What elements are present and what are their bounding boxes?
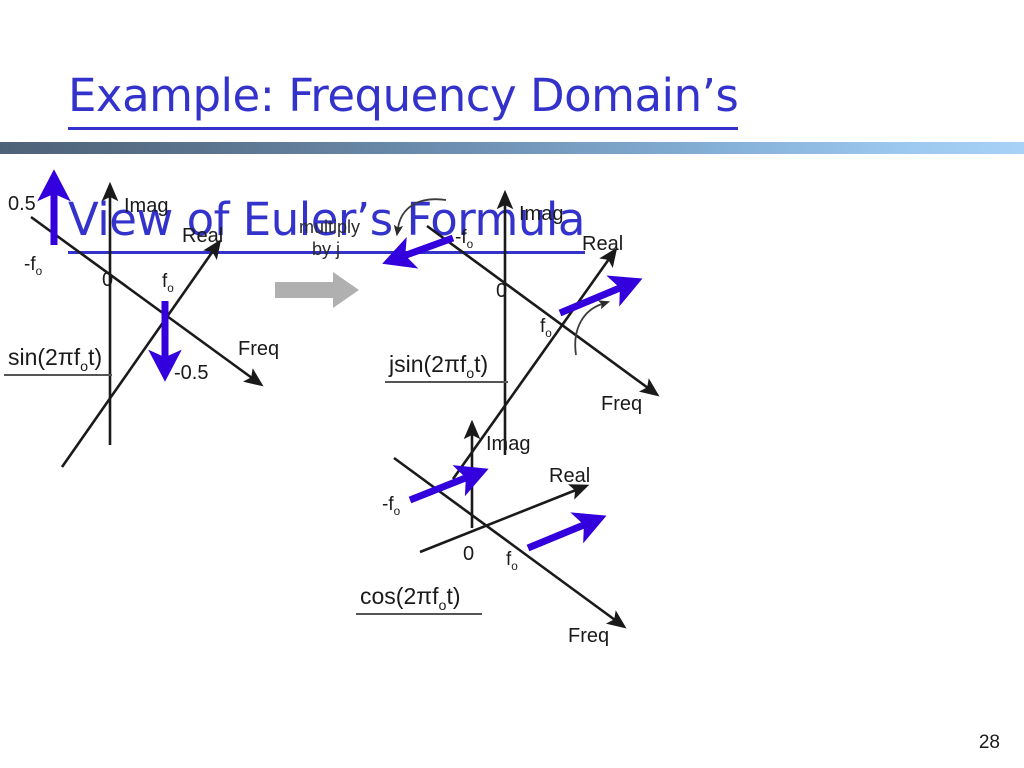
- diagram-cos-pos-f-label: fo: [506, 549, 518, 573]
- diagram-jsin-imag-axis: Imag: [505, 203, 563, 455]
- page-title-line-1: Example: Frequency Domain’s: [68, 66, 738, 130]
- header-divider-bar: [0, 142, 1024, 154]
- transition-label-line-2: by j: [312, 239, 340, 259]
- diagram-sin-imag-label: Imag: [124, 195, 168, 217]
- diagram-jsin-imag-label: Imag: [519, 203, 563, 225]
- diagram-sin-real-axis: Real: [62, 225, 223, 467]
- diagram-sin-origin-label: 0: [102, 269, 113, 291]
- diagram-cos: Imag Real Freq 0 -fo fo cos(2πfot): [356, 433, 615, 647]
- diagram-cos-formula-text: cos(2πfot): [360, 583, 461, 614]
- diagram-sin-real-label: Real: [182, 225, 223, 247]
- diagram-sin: Imag Real Freq 0 -fo fo 0.5 -0.5: [4, 186, 279, 467]
- diagram-sin-vector-neg-f: 0.5: [8, 186, 54, 245]
- diagram-cos-vector-pos-f: [528, 522, 591, 548]
- diagram-sin-formula-text: sin(2πfot): [8, 344, 102, 375]
- diagram-sin-imag-axis: Imag: [110, 195, 168, 445]
- diagram-cos-freq-label: Freq: [568, 625, 609, 647]
- euler-formula-figure: Imag Real Freq 0 -fo fo 0.5 -0.5: [0, 160, 1024, 680]
- diagram-jsin-neg-f-label: -fo: [455, 227, 474, 251]
- diagram-sin-formula: sin(2πfot): [4, 344, 112, 375]
- diagram-sin-freq-label: Freq: [238, 338, 279, 360]
- diagram-cos-imag-axis: Imag: [472, 433, 530, 528]
- diagram-jsin-rotation-arc-left: [398, 199, 446, 228]
- diagram-jsin-pos-f-label: fo: [540, 316, 552, 340]
- diagram-cos-imag-label: Imag: [486, 433, 530, 455]
- diagram-sin-neg-f-label: -fo: [24, 254, 43, 278]
- transition-multiply-by-j: multiply by j: [275, 217, 360, 308]
- diagram-jsin-rotation-arc-right: [575, 304, 602, 355]
- diagram-cos-vector-neg-f: [410, 475, 473, 500]
- diagram-cos-real-label: Real: [549, 465, 590, 487]
- diagram-jsin-formula-text: jsin(2πfot): [388, 351, 488, 382]
- diagram-jsin-freq-label: Freq: [601, 393, 642, 415]
- diagram-jsin-formula: jsin(2πfot): [385, 351, 508, 382]
- page-number: 28: [979, 732, 1000, 754]
- diagram-cos-origin-label: 0: [463, 543, 474, 565]
- transition-label-line-1: multiply: [299, 217, 360, 237]
- diagram-sin-value-neg: -0.5: [174, 362, 208, 384]
- diagram-jsin-origin-label: 0: [496, 280, 507, 302]
- diagram-jsin-vector-neg-f: [398, 238, 453, 258]
- diagram-cos-formula: cos(2πfot): [356, 583, 482, 614]
- block-right-arrow-icon: [275, 272, 359, 308]
- diagram-sin-pos-f-label: fo: [162, 271, 174, 295]
- diagram-sin-value-pos: 0.5: [8, 193, 36, 215]
- diagram-jsin-real-label: Real: [582, 233, 623, 255]
- diagram-cos-neg-f-label: -fo: [382, 494, 401, 518]
